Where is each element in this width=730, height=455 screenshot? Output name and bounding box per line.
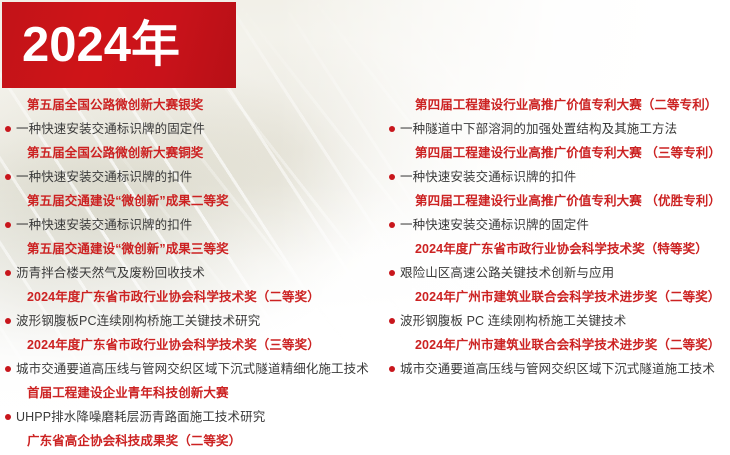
bullet-slot — [0, 429, 16, 453]
award-title-text: 第五届全国公路微创新大赛铜奖 — [16, 141, 203, 165]
bullet-slot — [384, 261, 400, 285]
award-entry-text: 一种快速安装交通标识牌的扣件 — [400, 165, 576, 189]
left-award-column: 第五届全国公路微创新大赛银奖一种快速安装交通标识牌的固定件第五届全国公路微创新大… — [0, 93, 395, 455]
award-entry-row: 一种快速安装交通标识牌的固定件 — [384, 213, 730, 237]
award-entry-row: 沥青拌合楼天然气及废粉回收技术 — [0, 261, 395, 285]
award-title-row: 2024年度广东省市政行业协会科学技术奖（二等奖） — [0, 285, 395, 309]
award-entry-text: 一种隧道中下部溶洞的加强处置结构及其施工方法 — [400, 117, 677, 141]
bullet-dot-icon — [5, 174, 11, 180]
bullet-dot-icon — [389, 174, 395, 180]
award-entry-row: 一种快速安装交通标识牌的扣件 — [0, 165, 395, 189]
bullet-slot — [0, 141, 16, 165]
award-entry-text: 城市交通要道高压线与管网交织区域下沉式隧道精细化施工技术 — [16, 357, 369, 381]
bullet-slot — [384, 285, 400, 309]
award-title-text: 第四届工程建设行业高推广价值专利大赛 （三等专利） — [400, 141, 721, 165]
bullet-slot — [0, 237, 16, 261]
bullet-slot — [0, 189, 16, 213]
award-title-text: 第五届全国公路微创新大赛银奖 — [16, 93, 203, 117]
award-title-row: 首届工程建设企业青年科技创新大赛 — [0, 381, 395, 405]
award-title-text: 第五届交通建设“微创新”成果三等奖 — [16, 237, 229, 261]
bullet-slot — [0, 285, 16, 309]
bullet-dot-icon — [5, 126, 11, 132]
bullet-dot-icon — [5, 366, 11, 372]
award-entry-row: 波形钢腹板 PC 连续刚构桥施工关键技术 — [384, 309, 730, 333]
award-title-text: 2024年广州市建筑业联合会科学技术进步奖（二等奖） — [400, 333, 720, 357]
bullet-slot — [384, 93, 400, 117]
award-title-row: 第四届工程建设行业高推广价值专利大赛 （优胜专利） — [384, 189, 730, 213]
bullet-slot — [0, 213, 16, 237]
award-title-text: 第四届工程建设行业高推广价值专利大赛 （优胜专利） — [400, 189, 721, 213]
bullet-slot — [384, 357, 400, 381]
award-title-text: 2024年度广东省市政行业协会科学技术奖（二等奖） — [16, 285, 320, 309]
award-title-text: 2024年广州市建筑业联合会科学技术进步奖（二等奖） — [400, 285, 720, 309]
award-entry-text: 沥青拌合楼天然气及废粉回收技术 — [16, 261, 205, 285]
bullet-slot — [0, 117, 16, 141]
bullet-slot — [384, 165, 400, 189]
award-list-page: 2024年 第五届全国公路微创新大赛银奖一种快速安装交通标识牌的固定件第五届全国… — [0, 0, 730, 455]
award-title-row: 第四届工程建设行业高推广价值专利大赛（二等专利） — [384, 93, 730, 117]
award-entry-text: UHPP排水降噪磨耗层沥青路面施工技术研究 — [16, 405, 265, 429]
award-entry-text: 一种快速安装交通标识牌的固定件 — [400, 213, 589, 237]
award-title-row: 第四届工程建设行业高推广价值专利大赛 （三等专利） — [384, 141, 730, 165]
bullet-dot-icon — [5, 222, 11, 228]
bullet-dot-icon — [5, 270, 11, 276]
award-title-row: 2024年广州市建筑业联合会科学技术进步奖（二等奖） — [384, 333, 730, 357]
bullet-slot — [0, 309, 16, 333]
bullet-dot-icon — [389, 318, 395, 324]
award-title-text: 首届工程建设企业青年科技创新大赛 — [16, 381, 229, 405]
bullet-slot — [0, 405, 16, 429]
year-banner-label: 2024年 — [2, 21, 180, 70]
bullet-slot — [384, 189, 400, 213]
award-entry-text: 波形钢腹板PC连续刚构桥施工关键技术研究 — [16, 309, 260, 333]
award-entry-row: UHPP排水降噪磨耗层沥青路面施工技术研究 — [0, 405, 395, 429]
bullet-dot-icon — [5, 318, 11, 324]
award-entry-row: 城市交通要道高压线与管网交织区域下沉式隧道精细化施工技术 — [0, 357, 395, 381]
award-entry-text: 艰险山区高速公路关键技术创新与应用 — [400, 261, 614, 285]
award-title-row: 2024年度广东省市政行业协会科学技术奖（特等奖） — [384, 237, 730, 261]
award-title-row: 2024年广州市建筑业联合会科学技术进步奖（二等奖） — [384, 285, 730, 309]
bullet-dot-icon — [389, 222, 395, 228]
award-entry-row: 一种快速安装交通标识牌的固定件 — [0, 117, 395, 141]
bullet-slot — [384, 237, 400, 261]
bullet-dot-icon — [389, 366, 395, 372]
bullet-slot — [384, 117, 400, 141]
award-entry-row: 一种快速安装交通标识牌的扣件 — [0, 213, 395, 237]
award-title-text: 第五届交通建设“微创新”成果二等奖 — [16, 189, 229, 213]
award-title-row: 第五届交通建设“微创新”成果二等奖 — [0, 189, 395, 213]
bullet-dot-icon — [389, 126, 395, 132]
award-entry-text: 一种快速安装交通标识牌的固定件 — [16, 117, 205, 141]
award-entry-text: 城市交通要道高压线与管网交织区域下沉式隧道施工技术 — [400, 357, 715, 381]
award-title-text: 2024年度广东省市政行业协会科学技术奖（三等奖） — [16, 333, 320, 357]
award-entry-text: 一种快速安装交通标识牌的扣件 — [16, 165, 192, 189]
bullet-slot — [384, 213, 400, 237]
award-entry-row: 一种隧道中下部溶洞的加强处置结构及其施工方法 — [384, 117, 730, 141]
bullet-dot-icon — [389, 270, 395, 276]
award-entry-row: 城市交通要道高压线与管网交织区域下沉式隧道施工技术 — [384, 357, 730, 381]
bullet-slot — [0, 93, 16, 117]
award-title-text: 2024年度广东省市政行业协会科学技术奖（特等奖） — [400, 237, 708, 261]
award-entry-row: 艰险山区高速公路关键技术创新与应用 — [384, 261, 730, 285]
award-title-row: 2024年度广东省市政行业协会科学技术奖（三等奖） — [0, 333, 395, 357]
bullet-slot — [384, 309, 400, 333]
bullet-slot — [0, 381, 16, 405]
bullet-slot — [0, 357, 16, 381]
award-title-row: 第五届交通建设“微创新”成果三等奖 — [0, 237, 395, 261]
award-entry-row: 波形钢腹板PC连续刚构桥施工关键技术研究 — [0, 309, 395, 333]
award-title-row: 第五届全国公路微创新大赛银奖 — [0, 93, 395, 117]
bullet-slot — [384, 141, 400, 165]
award-title-row: 广东省高企协会科技成果奖（二等奖） — [0, 429, 395, 453]
award-title-text: 广东省高企协会科技成果奖（二等奖） — [16, 429, 241, 453]
bullet-dot-icon — [5, 414, 11, 420]
right-award-column: 第四届工程建设行业高推广价值专利大赛（二等专利）一种隧道中下部溶洞的加强处置结构… — [384, 93, 730, 381]
award-entry-text: 一种快速安装交通标识牌的扣件 — [16, 213, 192, 237]
award-entry-row: 一种快速安装交通标识牌的扣件 — [384, 165, 730, 189]
award-title-text: 第四届工程建设行业高推广价值专利大赛（二等专利） — [400, 93, 717, 117]
bullet-slot — [0, 165, 16, 189]
award-entry-text: 波形钢腹板 PC 连续刚构桥施工关键技术 — [400, 309, 626, 333]
bullet-slot — [0, 261, 16, 285]
bullet-slot — [384, 333, 400, 357]
award-title-row: 第五届全国公路微创新大赛铜奖 — [0, 141, 395, 165]
bullet-slot — [0, 333, 16, 357]
year-banner: 2024年 — [2, 2, 236, 88]
